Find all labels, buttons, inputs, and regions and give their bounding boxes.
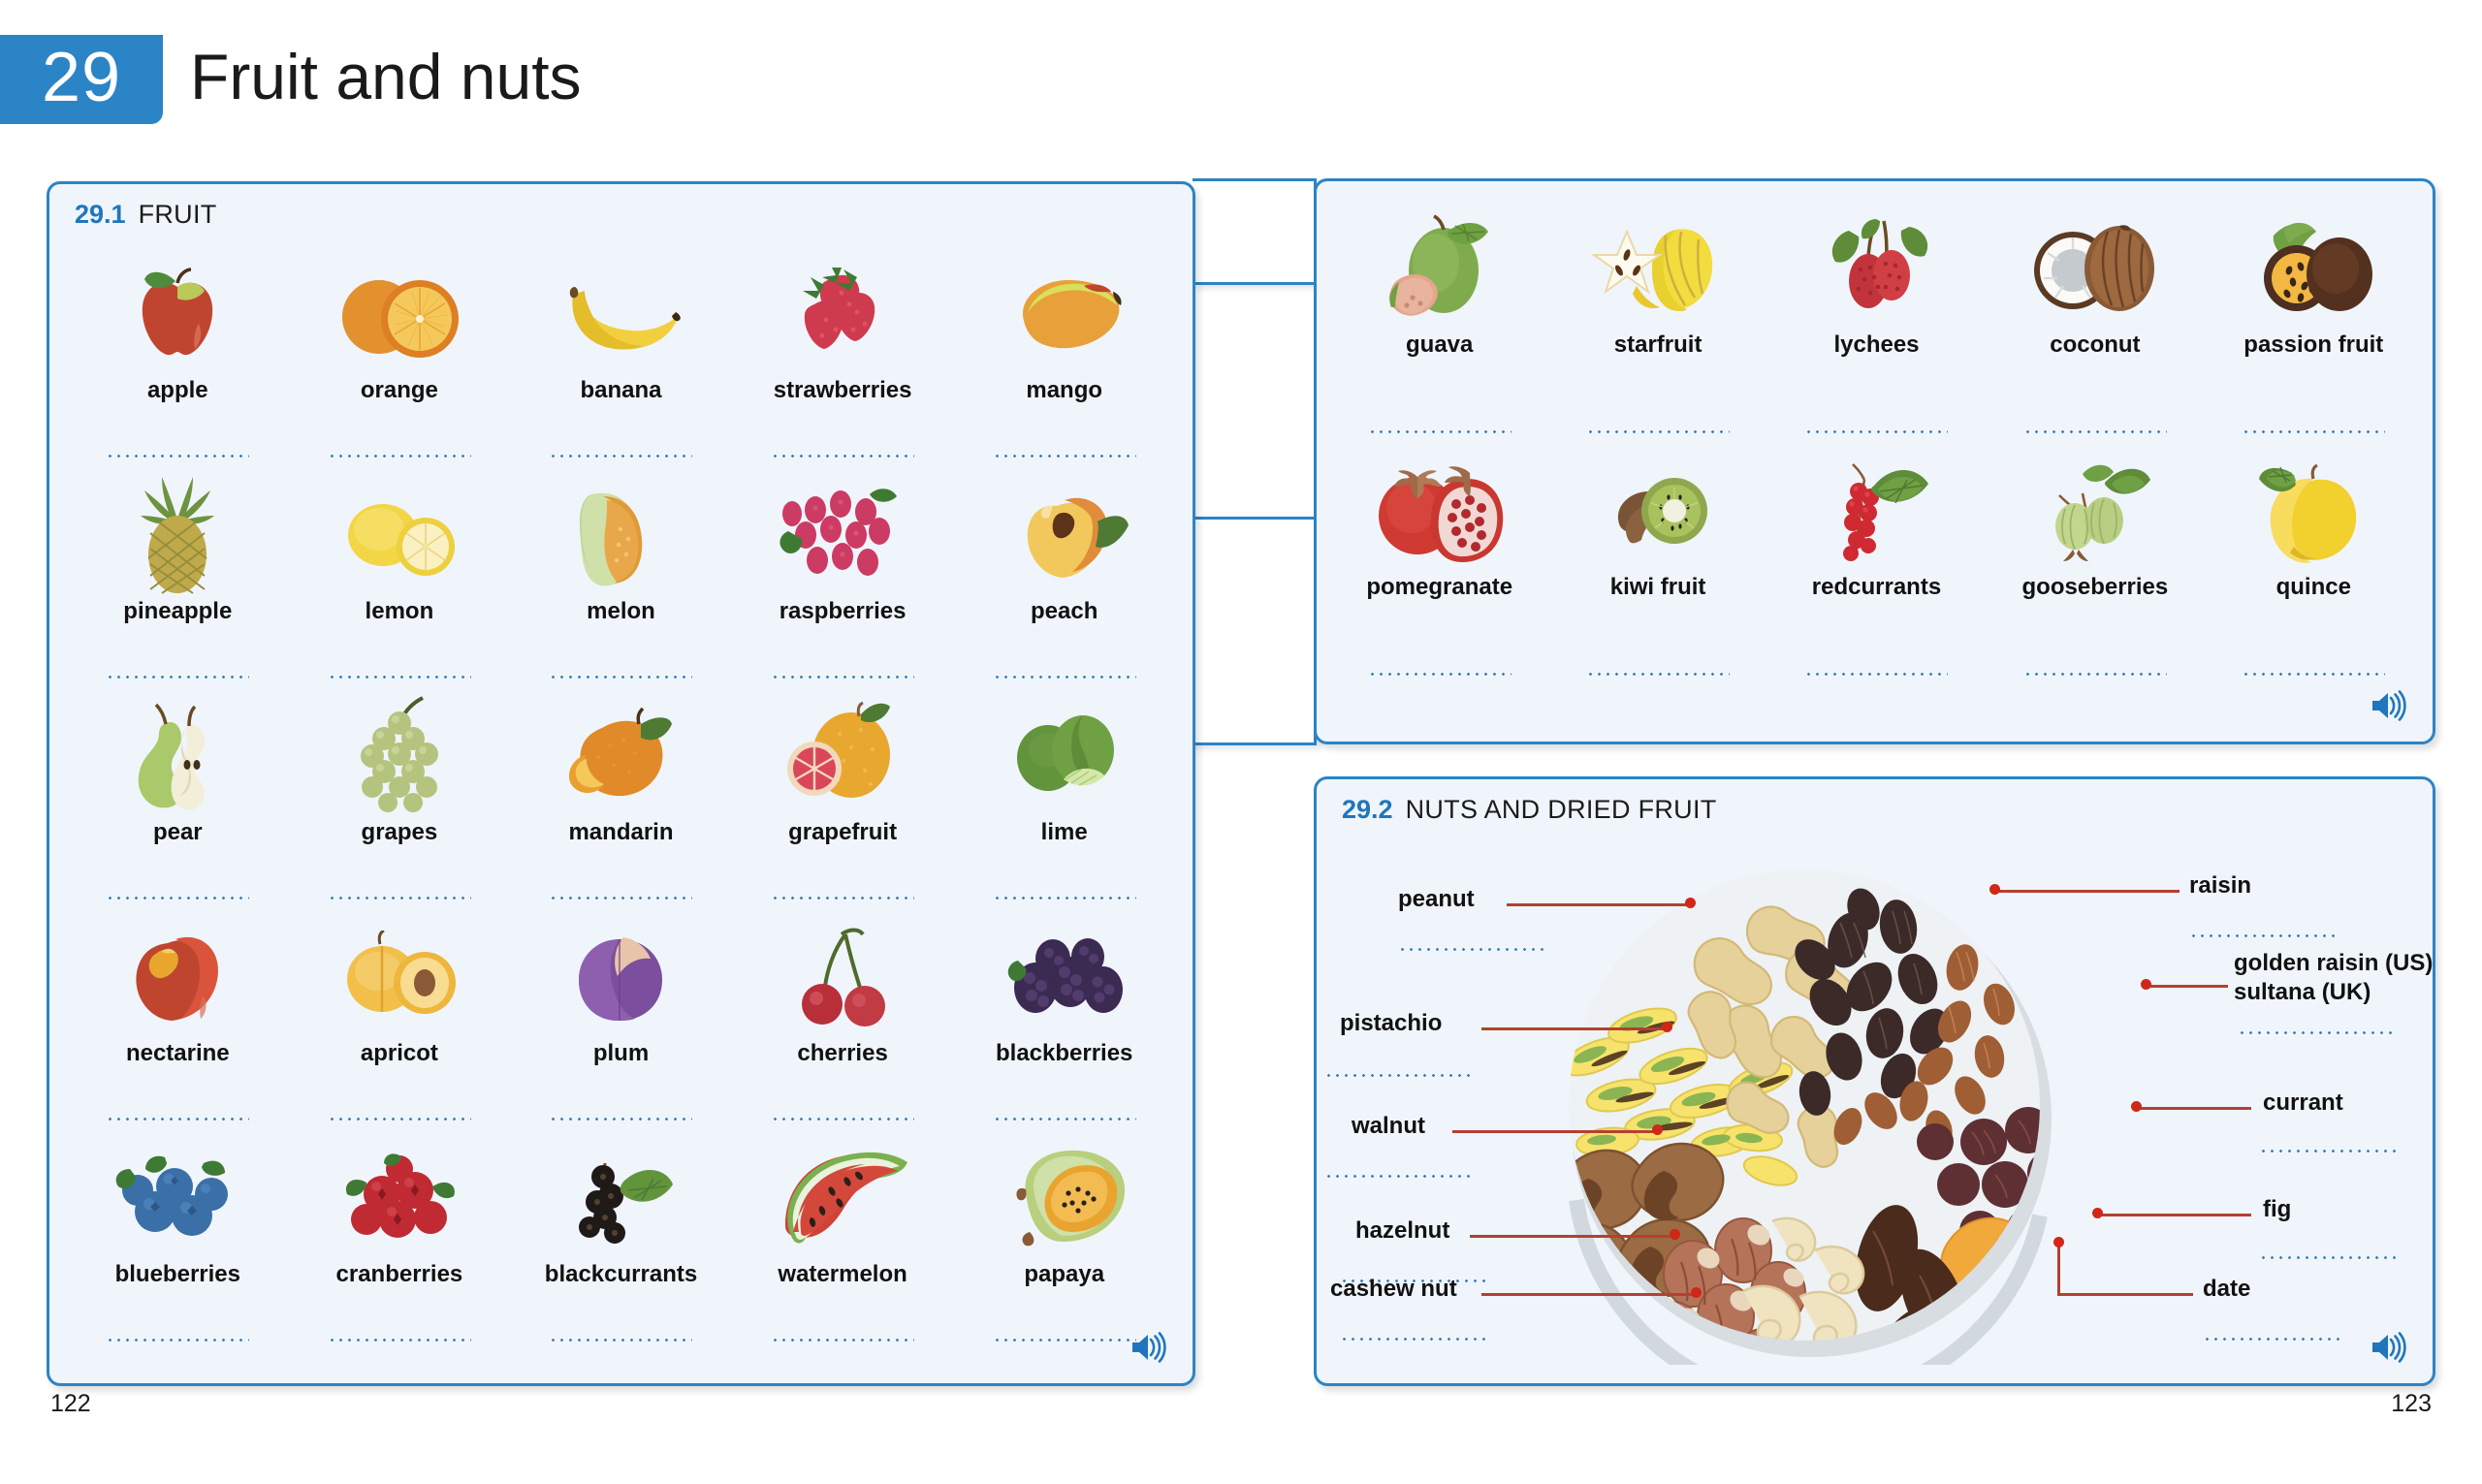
page-number-left: 122	[50, 1390, 91, 1418]
vocab-label: starfruit	[1614, 332, 1702, 359]
page-title: Fruit and nuts	[190, 45, 582, 114]
section-panel-fruit: 29.1 FRUIT appleorangebananastrawberries…	[47, 181, 1195, 1386]
vocab-cell-pear: pear	[67, 696, 289, 917]
vocab-label: plum	[593, 1040, 649, 1067]
kiwifruit-illustration	[1585, 457, 1731, 565]
write-line-golden-raisin[interactable]	[2238, 1031, 2395, 1034]
orange-illustration	[327, 260, 472, 368]
write-line[interactable]	[1586, 673, 1730, 676]
vocab-cell-banana: banana	[510, 254, 732, 475]
callout-label-date: date	[2203, 1276, 2250, 1303]
vocab-label: pear	[153, 819, 203, 846]
vocab-label: strawberries	[774, 377, 912, 404]
callout-label-fig: fig	[2263, 1196, 2291, 1223]
leader-dot-currant	[2131, 1101, 2142, 1112]
write-line[interactable]	[993, 455, 1136, 458]
write-line[interactable]	[2242, 430, 2385, 433]
blackcurrants-illustration	[548, 1144, 693, 1252]
write-line[interactable]	[993, 897, 1136, 900]
raspberries-illustration	[770, 481, 915, 589]
leader-line-date	[2057, 1293, 2193, 1296]
mango-illustration	[992, 260, 1137, 368]
fruit-grid: appleorangebananastrawberriesmangopineap…	[67, 254, 1175, 1359]
panel-title: NUTS AND DRIED FRUIT	[1406, 795, 1717, 825]
vocab-label: lemon	[366, 598, 434, 625]
vocab-label: blackcurrants	[545, 1261, 697, 1288]
write-line[interactable]	[1804, 673, 1948, 676]
vocab-label: kiwi fruit	[1610, 574, 1706, 601]
write-line[interactable]	[106, 676, 249, 679]
write-line[interactable]	[771, 897, 914, 900]
page-number-right: 123	[2391, 1390, 2432, 1418]
callout-label-hazelnut: hazelnut	[1355, 1217, 1449, 1245]
vocab-label: cranberries	[336, 1261, 463, 1288]
lime-illustration	[992, 702, 1137, 810]
write-line[interactable]	[106, 1118, 249, 1121]
panel-number: 29.2	[1342, 795, 1393, 825]
vocab-label: nectarine	[126, 1040, 230, 1067]
vocab-label: passion fruit	[2243, 332, 2383, 359]
vocab-cell-cherries: cherries	[732, 917, 954, 1138]
vocab-label: quince	[2276, 574, 2351, 601]
vocab-cell-peach: peach	[953, 475, 1175, 696]
panel-connector-tab-top	[1193, 178, 1317, 285]
write-line[interactable]	[328, 455, 471, 458]
vocab-cell-blackcurrants: blackcurrants	[510, 1138, 732, 1359]
vocab-cell-watermelon: watermelon	[732, 1138, 954, 1359]
grapefruit-illustration	[770, 702, 915, 810]
write-line[interactable]	[771, 1118, 914, 1121]
leader-dot-walnut	[1652, 1124, 1663, 1135]
leader-dot-fig	[2092, 1208, 2103, 1218]
section-panel-nuts: 29.2 NUTS AND DRIED FRUIT	[1314, 776, 2435, 1386]
vocab-cell-lychees: lychees	[1767, 208, 1986, 451]
pear-illustration	[105, 702, 250, 810]
leader-dot-hazelnut	[1670, 1229, 1680, 1240]
fruit-continued-grid: guavastarfruitlycheescoconutpassion frui…	[1330, 208, 2423, 693]
vocab-cell-blackberries: blackberries	[953, 917, 1175, 1138]
vocab-cell-mango: mango	[953, 254, 1175, 475]
coconut-illustration	[2022, 214, 2168, 323]
callout-label-raisin: raisin	[2189, 872, 2251, 900]
chapter-header: 29 Fruit and nuts	[0, 35, 582, 124]
vocab-label: lychees	[1833, 332, 1919, 359]
vocab-cell-quince: quince	[2205, 451, 2423, 693]
vocab-label: orange	[361, 377, 438, 404]
vocab-label: banana	[580, 377, 661, 404]
write-line[interactable]	[993, 1339, 1136, 1342]
write-line[interactable]	[1586, 430, 1730, 433]
vocab-cell-orange: orange	[289, 254, 511, 475]
strawberries-illustration	[770, 260, 915, 368]
vocab-label: apple	[147, 377, 208, 404]
write-line[interactable]	[328, 1339, 471, 1342]
passionfruit-illustration	[2241, 214, 2386, 323]
vocab-label: papaya	[1024, 1261, 1104, 1288]
write-line[interactable]	[1368, 430, 1511, 433]
speaker-audio-icon[interactable]	[2369, 689, 2407, 722]
leader-line-currant	[2137, 1107, 2251, 1110]
papaya-illustration	[992, 1144, 1137, 1252]
melon-illustration	[548, 481, 693, 589]
blueberries-illustration	[105, 1144, 250, 1252]
vocab-label: pineapple	[123, 598, 232, 625]
vocab-cell-apple: apple	[67, 254, 289, 475]
write-line[interactable]	[993, 1118, 1136, 1121]
nectarine-illustration	[105, 923, 250, 1031]
vocab-label: coconut	[2050, 332, 2140, 359]
leader-dot-peanut	[1685, 898, 1696, 908]
vocab-cell-grapefruit: grapefruit	[732, 696, 954, 917]
callout-label-sultana: sultana (UK)	[2234, 979, 2371, 1006]
apricot-illustration	[327, 923, 472, 1031]
write-line-raisin[interactable]	[2189, 934, 2337, 937]
write-line[interactable]	[328, 1118, 471, 1121]
vocab-label: guava	[1406, 332, 1473, 359]
vocab-cell-plum: plum	[510, 917, 732, 1138]
leader-line-date-vertical	[2057, 1243, 2060, 1295]
watermelon-illustration	[770, 1144, 915, 1252]
vocab-label: peach	[1031, 598, 1098, 625]
write-line[interactable]	[2242, 673, 2385, 676]
gooseberries-illustration	[2022, 457, 2168, 565]
section-panel-fruit-continued: guavastarfruitlycheescoconutpassion frui…	[1314, 178, 2435, 744]
plum-illustration	[548, 923, 693, 1031]
lychees-illustration	[1803, 214, 1949, 323]
speaker-audio-icon[interactable]	[1129, 1331, 1167, 1364]
write-line[interactable]	[549, 676, 692, 679]
write-line[interactable]	[2023, 673, 2167, 676]
write-line-fig[interactable]	[2259, 1256, 2397, 1259]
leader-line-hazelnut	[1470, 1235, 1675, 1238]
speaker-audio-icon[interactable]	[2369, 1331, 2407, 1364]
write-line-currant[interactable]	[2259, 1150, 2397, 1152]
vocab-cell-melon: melon	[510, 475, 732, 696]
write-line[interactable]	[1368, 673, 1511, 676]
guava-illustration	[1367, 214, 1512, 323]
vocab-label: lime	[1041, 819, 1088, 846]
panel-number: 29.1	[75, 200, 126, 230]
pineapple-illustration	[105, 481, 250, 589]
vocab-label: watermelon	[778, 1261, 907, 1288]
vocab-label: pomegranate	[1366, 574, 1512, 601]
vocab-cell-pomegranate: pomegranate	[1330, 451, 1548, 693]
vocab-cell-apricot: apricot	[289, 917, 511, 1138]
vocab-label: cherries	[797, 1040, 887, 1067]
write-line-walnut[interactable]	[1324, 1175, 1472, 1178]
write-line[interactable]	[771, 676, 914, 679]
chapter-number: 29	[42, 43, 121, 116]
cherries-illustration	[770, 923, 915, 1031]
vocab-label: grapefruit	[788, 819, 897, 846]
leader-dot-pistachio	[1662, 1022, 1672, 1032]
leader-dot-cashew-nut	[1691, 1287, 1702, 1298]
write-line[interactable]	[549, 1339, 692, 1342]
write-line[interactable]	[549, 455, 692, 458]
vocab-cell-starfruit: starfruit	[1548, 208, 1766, 451]
panel-heading-fruit: 29.1 FRUIT	[75, 200, 217, 230]
vocab-label: gooseberries	[2022, 574, 2169, 601]
vocab-label: blueberries	[115, 1261, 240, 1288]
vocab-cell-kiwi-fruit: kiwi fruit	[1548, 451, 1766, 693]
leader-line-cashew-nut	[1481, 1293, 1697, 1296]
vocab-cell-mandarin: mandarin	[510, 696, 732, 917]
vocab-cell-gooseberries: gooseberries	[1986, 451, 2204, 693]
leader-line-fig	[2098, 1214, 2251, 1216]
vocab-cell-grapes: grapes	[289, 696, 511, 917]
vocab-cell-lemon: lemon	[289, 475, 511, 696]
vocab-cell-raspberries: raspberries	[732, 475, 954, 696]
chapter-number-badge: 29	[0, 35, 163, 124]
leader-dot-date	[2053, 1237, 2064, 1247]
blackberries-illustration	[992, 923, 1137, 1031]
write-line[interactable]	[106, 455, 249, 458]
write-line-date[interactable]	[2203, 1338, 2340, 1341]
write-line[interactable]	[106, 1339, 249, 1342]
vocab-label: grapes	[362, 819, 438, 846]
vocab-cell-redcurrants: redcurrants	[1767, 451, 1986, 693]
lemon-illustration	[327, 481, 472, 589]
grapes-illustration	[327, 702, 472, 810]
banana-illustration	[548, 260, 693, 368]
vocab-cell-guava: guava	[1330, 208, 1548, 451]
vocab-cell-strawberries: strawberries	[732, 254, 954, 475]
nuts-diagram: peanut pistachio walnut hazelnut cashew …	[1317, 841, 2438, 1384]
vocab-label: melon	[587, 598, 655, 625]
leader-line-walnut	[1452, 1130, 1658, 1133]
vocab-label: raspberries	[780, 598, 907, 625]
vocab-label: redcurrants	[1812, 574, 1941, 601]
vocab-label: mango	[1026, 377, 1102, 404]
write-line[interactable]	[549, 897, 692, 900]
callout-label-cashew-nut: cashew nut	[1330, 1276, 1457, 1303]
leader-line-pistachio	[1481, 1027, 1668, 1030]
vocab-cell-pineapple: pineapple	[67, 475, 289, 696]
vocab-cell-lime: lime	[953, 696, 1175, 917]
write-line[interactable]	[771, 455, 914, 458]
callout-label-golden-raisin: golden raisin (US)	[2234, 950, 2433, 977]
write-line[interactable]	[328, 676, 471, 679]
vocab-cell-nectarine: nectarine	[67, 917, 289, 1138]
panel-heading-nuts: 29.2 NUTS AND DRIED FRUIT	[1342, 795, 1717, 825]
write-line-cashew-nut[interactable]	[1340, 1338, 1487, 1341]
quince-illustration	[2241, 457, 2386, 565]
cranberries-illustration	[327, 1144, 472, 1252]
callout-label-currant: currant	[2263, 1089, 2343, 1117]
vocab-cell-cranberries: cranberries	[289, 1138, 511, 1359]
callout-label-walnut: walnut	[1352, 1113, 1425, 1140]
vocab-label: blackberries	[996, 1040, 1132, 1067]
leader-line-peanut	[1507, 903, 1691, 906]
pomegranate-illustration	[1367, 457, 1512, 565]
starfruit-illustration	[1585, 214, 1731, 323]
write-line[interactable]	[771, 1339, 914, 1342]
leader-line-golden-raisin	[2147, 985, 2228, 988]
write-line-peanut[interactable]	[1398, 948, 1545, 951]
mandarin-illustration	[548, 702, 693, 810]
redcurrants-illustration	[1803, 457, 1949, 565]
leader-dot-golden-raisin	[2141, 979, 2151, 990]
write-line[interactable]	[549, 1118, 692, 1121]
apple-illustration	[105, 260, 250, 368]
vocab-cell-coconut: coconut	[1986, 208, 2204, 451]
leader-dot-raisin	[1989, 884, 2000, 895]
write-line[interactable]	[328, 897, 471, 900]
vocab-cell-blueberries: blueberries	[67, 1138, 289, 1359]
callout-label-pistachio: pistachio	[1340, 1010, 1442, 1037]
write-line[interactable]	[2023, 430, 2167, 433]
vocab-label: mandarin	[568, 819, 673, 846]
peach-illustration	[992, 481, 1137, 589]
panel-title: FRUIT	[139, 200, 217, 230]
vocab-cell-passion-fruit: passion fruit	[2205, 208, 2423, 451]
write-line[interactable]	[1804, 430, 1948, 433]
callout-label-peanut: peanut	[1398, 886, 1475, 913]
write-line-pistachio[interactable]	[1324, 1074, 1472, 1077]
textbook-spread: 29 Fruit and nuts 29.1 FRUIT appleorange…	[0, 0, 2482, 1484]
leader-line-raisin	[1995, 890, 2180, 893]
nut-bowl-illustration	[1528, 851, 2081, 1365]
write-line[interactable]	[993, 676, 1136, 679]
vocab-label: apricot	[361, 1040, 438, 1067]
vocab-cell-papaya: papaya	[953, 1138, 1175, 1359]
write-line[interactable]	[106, 897, 249, 900]
